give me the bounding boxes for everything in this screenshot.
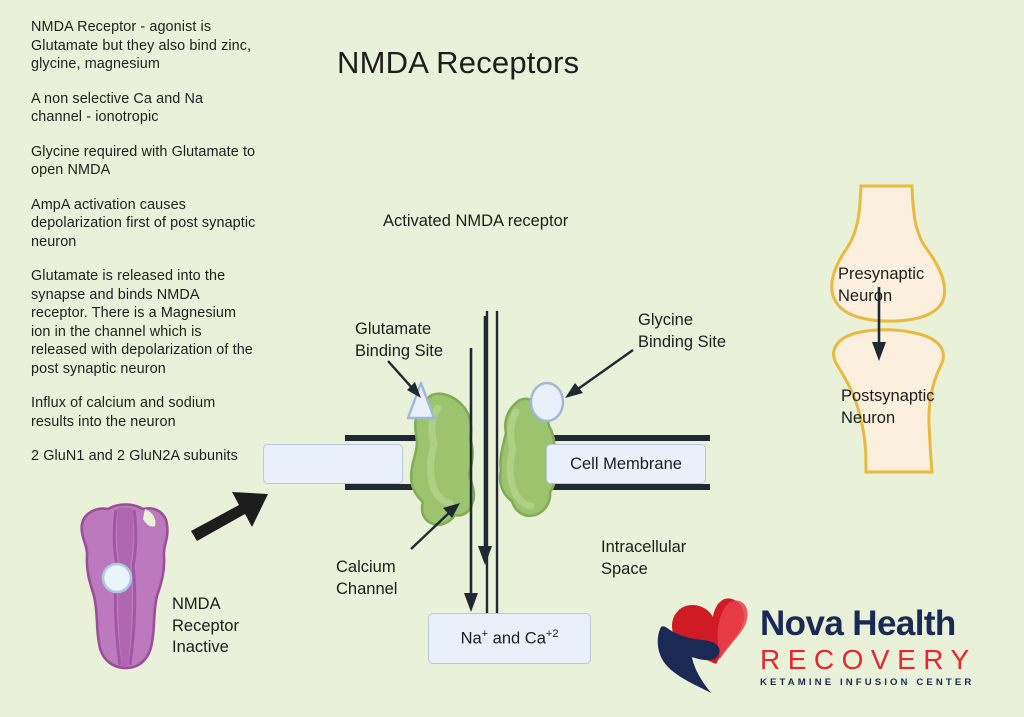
glycine-ligand-icon	[531, 383, 563, 421]
cell-membrane-label: Cell Membrane	[570, 455, 682, 474]
ion-flow-arrow-short	[478, 316, 492, 565]
postsynaptic-neuron-label: Postsynaptic Neuron	[841, 385, 935, 429]
ions-label: Na+ and Ca+2	[461, 628, 559, 649]
intracellular-space-label: Intracellular Space	[601, 537, 686, 580]
diagram-canvas: NMDA Receptor - agonist is Glutamate but…	[0, 0, 1024, 717]
calcium-channel-label: Calcium Channel	[336, 557, 397, 600]
glutamate-leader-arrow	[388, 361, 421, 398]
cell-membrane-box: Cell Membrane	[546, 444, 706, 484]
magnesium-ion-icon	[103, 564, 131, 592]
ions-charge-calcium: +2	[546, 628, 559, 640]
logo-wordmark: Nova Health RECOVERY KETAMINE INFUSION C…	[760, 604, 977, 690]
membrane-box-left	[263, 444, 403, 484]
glutamate-binding-site-label: Glutamate Binding Site	[355, 319, 443, 362]
intracellular-baseline	[0, 700, 1024, 717]
membrane-bar-lower-right	[545, 484, 710, 490]
logo-tagline: KETAMINE INFUSION CENTER	[760, 676, 977, 690]
glycine-binding-site-label: Glycine Binding Site	[638, 310, 726, 353]
ions-box: Na+ and Ca+2	[428, 613, 591, 664]
logo-line-nova-health: Nova Health	[760, 604, 977, 644]
inactive-receptor-label: NMDA Receptor Inactive	[172, 594, 239, 659]
membrane-bar-upper-right	[545, 435, 710, 441]
transition-arrow	[191, 492, 268, 541]
nova-health-recovery-logo: Nova Health RECOVERY KETAMINE INFUSION C…	[655, 600, 985, 700]
glycine-leader-arrow	[565, 350, 633, 398]
logo-line-recovery: RECOVERY	[760, 644, 977, 676]
presynaptic-neuron-label: Presynaptic Neuron	[838, 263, 924, 307]
